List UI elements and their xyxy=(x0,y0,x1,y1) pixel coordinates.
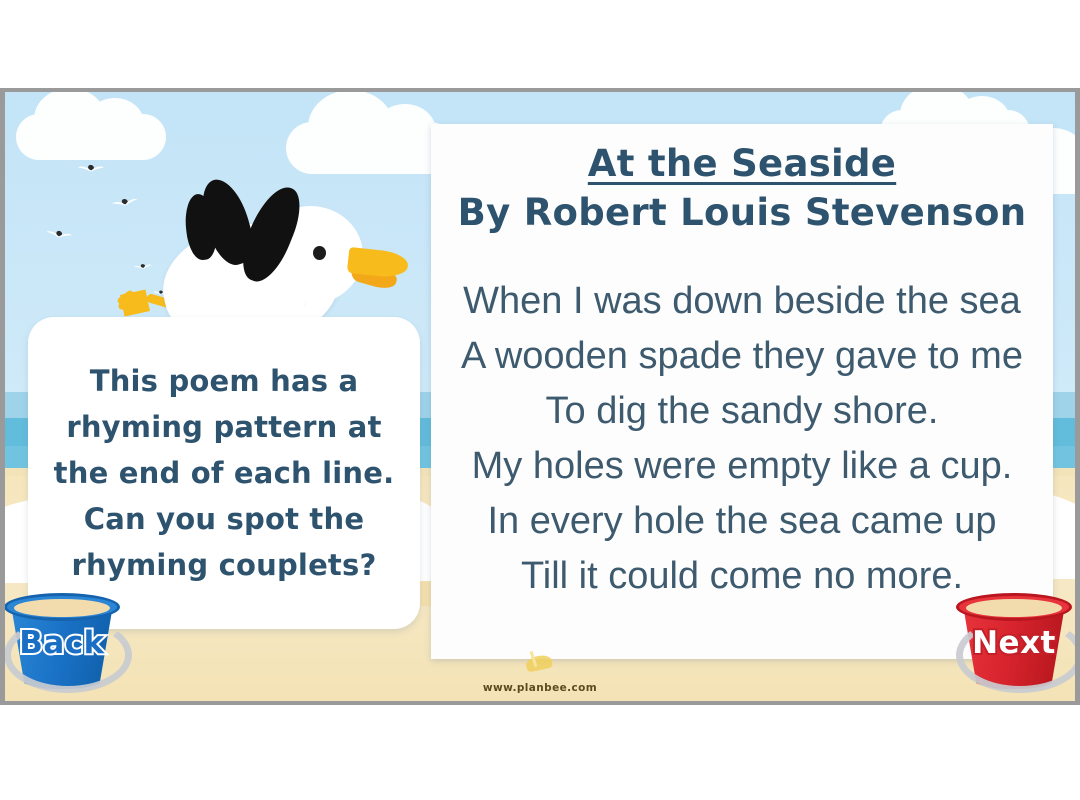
presentation-slide: This poem has a rhyming pattern at the e… xyxy=(0,88,1080,705)
next-button-label: Next xyxy=(954,625,1074,661)
distant-bird-icon xyxy=(78,164,104,174)
poem-line: Till it could come no more. xyxy=(443,549,1041,604)
bucket-sand xyxy=(14,599,110,617)
poem-line: To dig the sandy shore. xyxy=(443,384,1041,439)
next-button[interactable]: Next xyxy=(954,591,1074,695)
poem-title: At the Seaside xyxy=(443,142,1041,185)
poem-panel: At the Seaside By Robert Louis Stevenson… xyxy=(431,124,1053,659)
speech-bubble-line: Can you spot the xyxy=(54,496,395,542)
poem-line: My holes were empty like a cup. xyxy=(443,439,1041,494)
speech-bubble-line: This poem has a xyxy=(54,358,395,404)
bucket-sand xyxy=(966,599,1062,617)
speech-bubble: This poem has a rhyming pattern at the e… xyxy=(28,317,420,629)
poem-line: A wooden spade they gave to me xyxy=(443,329,1041,384)
speech-bubble-line: the end of each line. xyxy=(54,450,395,496)
back-button-label: Back xyxy=(2,625,122,661)
watermark: www.planbee.com xyxy=(0,682,1080,694)
watermark-shell-icon xyxy=(524,650,556,674)
poem-body: When I was down beside the sea A wooden … xyxy=(443,274,1041,604)
speech-bubble-text: This poem has a rhyming pattern at the e… xyxy=(40,358,409,588)
poem-line: In every hole the sea came up xyxy=(443,494,1041,549)
back-button[interactable]: Back xyxy=(2,591,122,695)
poem-author: By Robert Louis Stevenson xyxy=(443,191,1041,234)
poem-line: When I was down beside the sea xyxy=(443,274,1041,329)
speech-bubble-line: rhyming couplets? xyxy=(54,542,395,588)
speech-bubble-line: rhyming pattern at xyxy=(54,404,395,450)
